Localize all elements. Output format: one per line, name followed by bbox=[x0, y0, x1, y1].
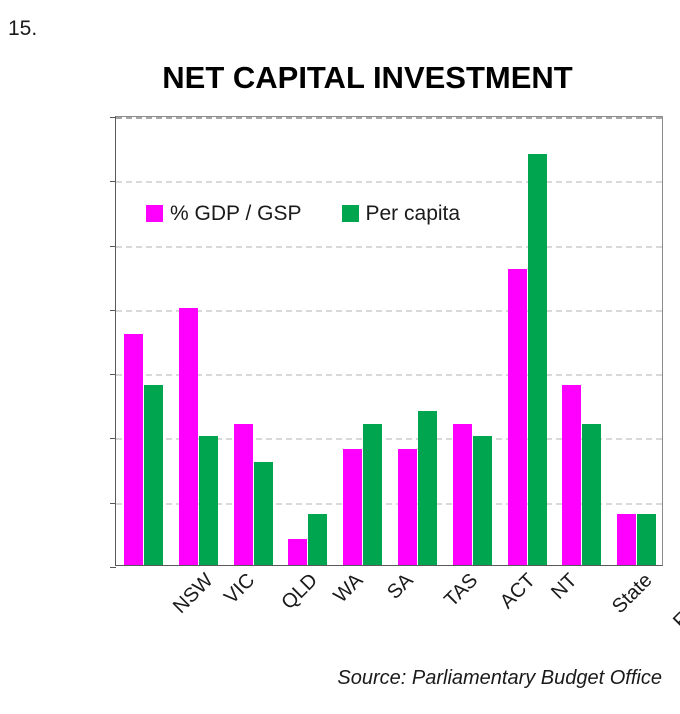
x-axis-tick-label: State bbox=[608, 570, 655, 617]
bar bbox=[528, 154, 547, 565]
x-axis-tick-label: VIC bbox=[221, 570, 259, 608]
bar-group bbox=[445, 117, 500, 565]
bar bbox=[617, 514, 636, 565]
bar bbox=[144, 385, 163, 565]
chart-legend: % GDP / GSPPer capita bbox=[146, 203, 460, 224]
bar bbox=[288, 539, 307, 565]
bar-group bbox=[116, 117, 171, 565]
bar-group bbox=[609, 117, 664, 565]
x-axis-tick-label: Federal bbox=[669, 570, 680, 632]
bar bbox=[199, 436, 218, 565]
bar bbox=[582, 424, 601, 565]
bar bbox=[124, 334, 143, 565]
bar bbox=[453, 424, 472, 565]
x-axis-tick-label: ACT bbox=[497, 570, 539, 612]
x-axis-tick-label: WA bbox=[330, 570, 366, 606]
bar bbox=[308, 514, 327, 565]
x-axis-labels: NSWVICQLDWASATASACTNTStateFederal bbox=[115, 570, 663, 660]
bar-group bbox=[500, 117, 555, 565]
bar-group bbox=[226, 117, 281, 565]
bar-groups bbox=[116, 117, 662, 565]
legend-entry: % GDP / GSP bbox=[146, 203, 302, 224]
bar bbox=[473, 436, 492, 565]
bar bbox=[398, 449, 417, 565]
x-axis-tick-label: QLD bbox=[278, 570, 321, 613]
bar-group bbox=[554, 117, 609, 565]
bar bbox=[363, 424, 382, 565]
bar-group bbox=[280, 117, 335, 565]
legend-entry: Per capita bbox=[342, 203, 461, 224]
legend-swatch-icon bbox=[146, 205, 163, 222]
bar bbox=[179, 308, 198, 565]
chart-plot-area bbox=[115, 116, 663, 566]
page-title: NET CAPITAL INVESTMENT bbox=[0, 60, 680, 96]
bar-group bbox=[171, 117, 226, 565]
legend-label: Per capita bbox=[366, 203, 461, 224]
bar bbox=[418, 411, 437, 565]
bar bbox=[343, 449, 362, 565]
legend-swatch-icon bbox=[342, 205, 359, 222]
bar bbox=[234, 424, 253, 565]
bar bbox=[508, 269, 527, 565]
bar bbox=[562, 385, 581, 565]
x-axis-tick-label: NSW bbox=[170, 570, 217, 617]
item-number: 15. bbox=[8, 18, 37, 39]
bar bbox=[254, 462, 273, 565]
x-axis-tick-label: NT bbox=[548, 570, 581, 603]
x-axis-tick-label: SA bbox=[383, 570, 416, 603]
x-axis-tick-label: TAS bbox=[441, 570, 482, 611]
legend-label: % GDP / GSP bbox=[170, 203, 302, 224]
bar bbox=[637, 514, 656, 565]
source-note: Source: Parliamentary Budget Office bbox=[337, 668, 662, 688]
bar-group bbox=[335, 117, 390, 565]
y-tick-mark bbox=[110, 567, 116, 568]
bar-group bbox=[390, 117, 445, 565]
